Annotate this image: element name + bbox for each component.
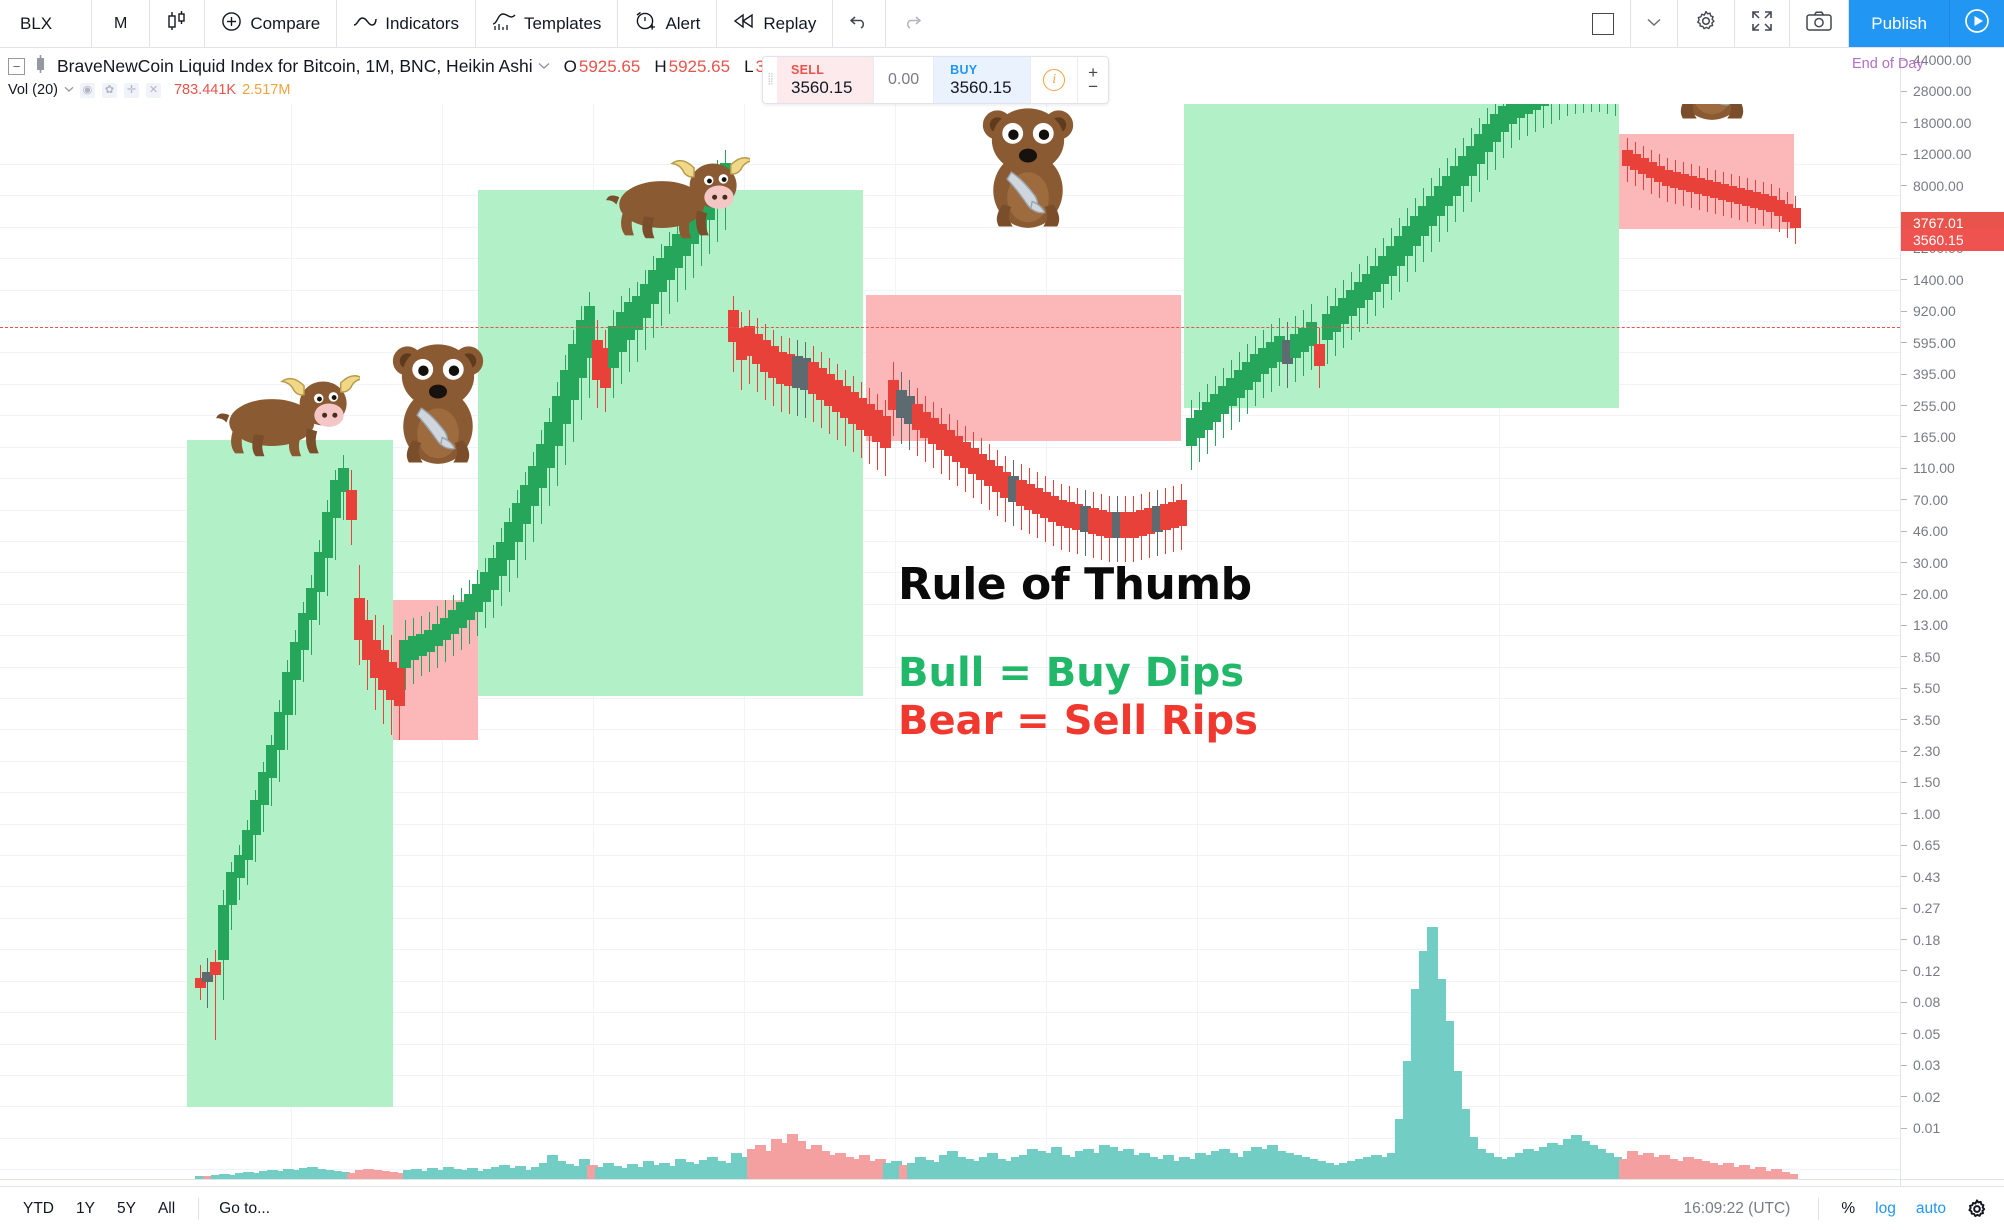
redo-arrow-icon (902, 13, 922, 34)
price-tick: 0.01 (1901, 1120, 2004, 1136)
candle-wick (1583, 104, 1585, 113)
undo-button[interactable] (833, 0, 886, 47)
spread-value: 0.00 (873, 57, 934, 103)
candlestick (346, 470, 357, 545)
compare-label: Compare (250, 14, 320, 34)
indicators-label: Indicators (385, 14, 459, 34)
gridline (0, 1138, 1900, 1139)
rule-of-thumb-annotation: Rule of Thumb Bull = Buy Dips Bear = Sel… (898, 559, 1258, 744)
buy-price: 3560.15 (950, 78, 1014, 98)
plus-circle-icon (221, 11, 242, 37)
candle-wick (1615, 104, 1617, 116)
price-tick: 3.50 (1901, 712, 2004, 728)
snapshot-button[interactable] (1790, 0, 1849, 47)
quantity-stepper: + − (1077, 57, 1108, 103)
chart-canvas[interactable]: Rule of Thumb Bull = Buy Dips Bear = Sel… (0, 104, 1900, 1179)
price-tick: 8.50 (1901, 649, 2004, 665)
chevron-down-icon (1647, 18, 1661, 30)
price-tick: 595.00 (1901, 335, 2004, 351)
price-axis[interactable]: 44000.0028000.0018000.0012000.008000.005… (1900, 48, 2004, 1179)
templates-icon (492, 11, 516, 36)
layout-square-icon (1592, 13, 1614, 35)
candle-wick (1543, 104, 1545, 128)
replay-button[interactable]: Replay (717, 0, 833, 47)
layout-button[interactable] (1576, 0, 1631, 47)
interval-label: M (114, 15, 127, 33)
wave-line-icon (353, 14, 377, 34)
play-circle-icon (1964, 8, 1990, 39)
goto-input[interactable]: Go to... (211, 1200, 278, 1218)
volume-study-name: Vol (20) (8, 82, 58, 98)
bear-mascot-icon (972, 104, 1084, 232)
candlestick (1610, 104, 1621, 116)
chart-type-button[interactable] (150, 0, 205, 47)
candle-wick (1575, 104, 1577, 114)
auto-toggle[interactable]: auto (1906, 1200, 1956, 1218)
price-tick: 70.00 (1901, 492, 2004, 508)
drag-grip-icon[interactable]: ⠿⠿ (763, 57, 777, 103)
candle-body (1176, 500, 1187, 526)
buy-button[interactable]: BUY 3560.15 (934, 57, 1030, 103)
ohlc-high: H5925.65 (654, 57, 730, 77)
bull-mascot-icon (210, 358, 360, 468)
annotation-title: Rule of Thumb (898, 559, 1258, 610)
plus-icon[interactable]: ✛ (124, 83, 139, 98)
bottom-status-bar: YTD 1Y 5Y All Go to... 16:09:22 (UTC) % … (0, 1186, 2004, 1230)
save-layout-button[interactable] (1631, 0, 1678, 47)
close-icon[interactable]: ✕ (146, 83, 161, 98)
rewind-icon (733, 13, 755, 34)
candle-wick (1559, 104, 1561, 120)
info-circle-icon: i (1043, 69, 1065, 91)
alarm-clock-icon (634, 10, 657, 37)
gear-icon[interactable] (1956, 1198, 1988, 1220)
price-tick: 5.50 (1901, 680, 2004, 696)
play-button[interactable] (1950, 0, 2004, 47)
price-tick: 0.12 (1901, 963, 2004, 979)
collapse-minus-icon[interactable]: − (8, 58, 25, 75)
price-tick: 0.65 (1901, 837, 2004, 853)
info-button[interactable]: i (1030, 57, 1077, 103)
gear-icon[interactable]: ✿ (102, 83, 117, 98)
current-price-line (0, 327, 1900, 328)
candle-body (346, 490, 357, 520)
fullscreen-expand-icon (1751, 10, 1773, 37)
price-tick: 30.00 (1901, 555, 2004, 571)
price-tick: 46.00 (1901, 523, 2004, 539)
publish-button[interactable]: Publish (1849, 0, 1950, 47)
vertical-gridline (895, 104, 896, 1179)
candle-body (1790, 208, 1801, 228)
price-tick: 0.03 (1901, 1057, 2004, 1073)
price-tick: 18000.00 (1901, 115, 2004, 131)
log-toggle[interactable]: log (1865, 1200, 1906, 1218)
sell-price: 3560.15 (791, 78, 857, 98)
price-tick: 20.00 (1901, 586, 2004, 602)
candle-wick (1591, 104, 1593, 112)
range-1y-button[interactable]: 1Y (65, 1200, 106, 1218)
price-tick: 13.00 (1901, 617, 2004, 633)
bottom-right-group: 16:09:22 (UTC) % log auto (1684, 1198, 2004, 1220)
end-of-day-label: End of Day (1852, 56, 1924, 72)
price-tick: 8000.00 (1901, 178, 2004, 194)
top-toolbar: BLX M (0, 0, 2004, 48)
candle-wick (207, 958, 209, 1008)
eye-icon[interactable]: ◉ (80, 83, 95, 98)
undo-arrow-icon (849, 13, 869, 34)
percent-toggle[interactable]: % (1831, 1200, 1865, 1218)
candle-wick (1599, 104, 1601, 112)
volume-value-secondary: 2.517M (242, 82, 290, 98)
sell-button[interactable]: SELL 3560.15 (777, 57, 873, 103)
price-tick: 0.43 (1901, 869, 2004, 885)
annotation-bear-line: Bear = Sell Rips (898, 698, 1258, 744)
clock-label: 16:09:22 (UTC) (1684, 1200, 1807, 1218)
price-tick: 920.00 (1901, 303, 2004, 319)
price-tick: 1.50 (1901, 774, 2004, 790)
redo-button[interactable] (886, 0, 938, 47)
candle-wick (1551, 104, 1553, 124)
price-tick: 0.08 (1901, 994, 2004, 1010)
chart-title: BraveNewCoin Liquid Index for Bitcoin, 1… (57, 56, 533, 77)
toolbar-spacer (938, 0, 1576, 47)
chevron-down-icon[interactable] (538, 61, 550, 73)
price-tick: 0.27 (1901, 900, 2004, 916)
gear-icon (1694, 9, 1718, 38)
price-tick: 2.30 (1901, 743, 2004, 759)
spread-text: 0.00 (888, 71, 919, 89)
price-tick: 12000.00 (1901, 146, 2004, 162)
candlestick (1790, 196, 1801, 244)
alert-label: Alert (665, 14, 700, 34)
candle-series-icon (33, 55, 48, 78)
symbol-label: BLX (20, 14, 52, 34)
range-all-button[interactable]: All (147, 1200, 186, 1218)
price-tick: 1.00 (1901, 806, 2004, 822)
decrease-button[interactable]: − (1088, 80, 1098, 94)
volume-value-primary: 783.441K (174, 82, 236, 98)
price-tick: 255.00 (1901, 398, 2004, 414)
ohlc-open: O5925.65 (564, 57, 641, 77)
price-tick: 395.00 (1901, 366, 2004, 382)
chart-legend-main: − BraveNewCoin Liquid Index for Bitcoin,… (8, 55, 845, 78)
buy-label: BUY (950, 63, 1014, 77)
trade-panel: ⠿⠿ SELL 3560.15 0.00 BUY 3560.15 i + − (762, 56, 1109, 104)
bear-mascot-icon (382, 336, 494, 468)
price-tick: 0.05 (1901, 1026, 2004, 1042)
chevron-down-icon[interactable] (64, 84, 74, 96)
price-tick: 0.18 (1901, 932, 2004, 948)
price-tick: 1400.00 (1901, 272, 2004, 288)
price-tick: 110.00 (1901, 460, 2004, 476)
templates-button[interactable]: Templates (476, 0, 618, 47)
range-ytd-button[interactable]: YTD (12, 1200, 65, 1218)
candlestick-icon (166, 9, 188, 38)
price-tick: 165.00 (1901, 429, 2004, 445)
divider (198, 1198, 199, 1220)
replay-label: Replay (763, 14, 816, 34)
candle-wick (1607, 104, 1609, 114)
price-tick: 0.02 (1901, 1089, 2004, 1105)
current-price-badge: 3560.15 (1901, 229, 2004, 251)
bear-mascot-icon (1656, 104, 1768, 124)
toolbar-right-group: Publish (1576, 0, 2004, 47)
publish-label: Publish (1871, 14, 1927, 34)
chart-legend-volume: Vol (20) ◉ ✿ ✛ ✕ 783.441K 2.517M (8, 82, 290, 98)
compare-button[interactable]: Compare (205, 0, 337, 47)
candlestick (1176, 484, 1187, 550)
price-tick: 28000.00 (1901, 83, 2004, 99)
fullscreen-button[interactable] (1735, 0, 1790, 47)
range-5y-button[interactable]: 5Y (106, 1200, 147, 1218)
indicators-button[interactable]: Indicators (337, 0, 476, 47)
sell-label: SELL (791, 63, 857, 77)
camera-icon (1806, 11, 1832, 37)
symbol-button[interactable]: BLX (0, 0, 92, 47)
interval-button[interactable]: M (92, 0, 150, 47)
divider (1818, 1198, 1819, 1220)
annotation-bull-line: Bull = Buy Dips (898, 650, 1258, 696)
bull-mascot-icon (600, 140, 750, 250)
alert-button[interactable]: Alert (618, 0, 717, 47)
settings-button[interactable] (1678, 0, 1735, 47)
candle-wick (1567, 104, 1569, 116)
templates-label: Templates (524, 14, 601, 34)
